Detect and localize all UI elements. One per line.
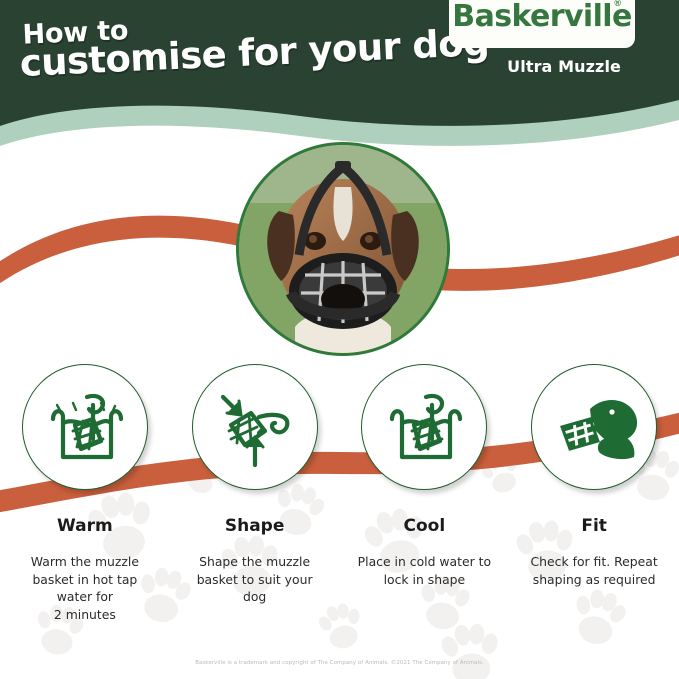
step-title: Warm (57, 516, 113, 536)
shape-muzzle-arrows-icon (207, 379, 303, 475)
step-icon-circle (22, 364, 148, 490)
brand-logo-text: Baskerville (452, 2, 631, 32)
footer-legal-text: Baskerville is a trademark and copyright… (0, 660, 679, 666)
step-cool: Cool Place in cold water to lock in shap… (340, 364, 510, 623)
dog-head-wearing-muzzle-icon (546, 379, 642, 475)
step-description: Check for fit. Repeat shaping as require… (519, 553, 669, 588)
muzzle-in-cold-water-icon (376, 379, 472, 475)
step-title: Shape (225, 516, 285, 536)
muzzle-in-warm-water-icon (37, 379, 133, 475)
step-description: Warm the muzzle basket in hot tap water … (10, 553, 160, 623)
step-description: Place in cold water to lock in shape (349, 553, 499, 588)
hero-dog-photo (236, 142, 450, 356)
infographic-page: How to customise for your dog Baskervill… (0, 0, 679, 679)
step-title: Cool (404, 516, 446, 536)
page-header: How to customise for your dog Baskervill… (0, 0, 679, 160)
registered-trademark-icon: ® (614, 0, 621, 8)
step-icon-circle (531, 364, 657, 490)
step-icon-circle (192, 364, 318, 490)
product-subtitle: Ultra Muzzle (507, 57, 621, 76)
brand-logo: Baskerville ® (449, 0, 635, 48)
step-icon-circle (361, 364, 487, 490)
step-warm: Warm Warm the muzzle basket in hot tap w… (0, 364, 170, 623)
step-fit: Fit Check for fit. Repeat shaping as req… (509, 364, 679, 623)
dog-with-muzzle-illustration (239, 145, 447, 353)
step-description: Shape the muzzle basket to suit your dog (180, 553, 330, 606)
steps-row: Warm Warm the muzzle basket in hot tap w… (0, 364, 679, 623)
step-shape: Shape Shape the muzzle basket to suit yo… (170, 364, 340, 623)
step-title: Fit (581, 516, 607, 536)
